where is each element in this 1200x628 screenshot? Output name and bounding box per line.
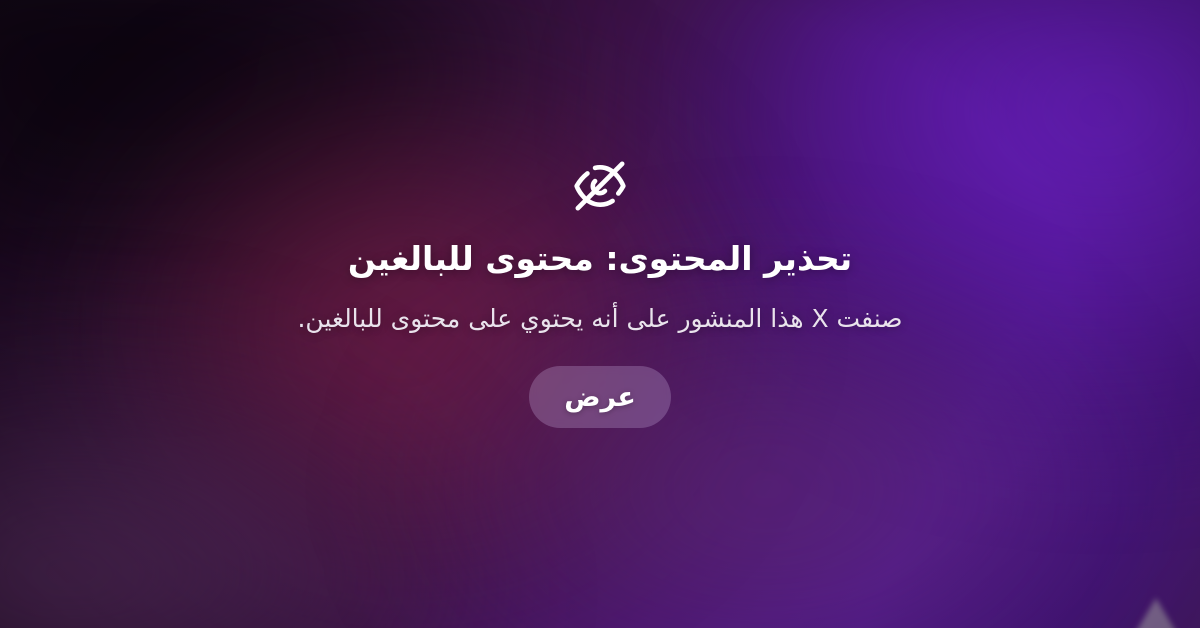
content-warning-description: صنفت X هذا المنشور على أنه يحتوي على محت… [297, 301, 902, 336]
content-warning-title: تحذير المحتوى: محتوى للبالغين [348, 238, 852, 279]
content-warning-card: تحذير المحتوى: محتوى للبالغين صنفت X هذا… [0, 0, 1200, 628]
eye-off-icon [572, 158, 628, 214]
view-button[interactable]: عرض [529, 366, 671, 428]
adult-content-warning-screen: تحذير المحتوى: محتوى للبالغين صنفت X هذا… [0, 0, 1200, 628]
